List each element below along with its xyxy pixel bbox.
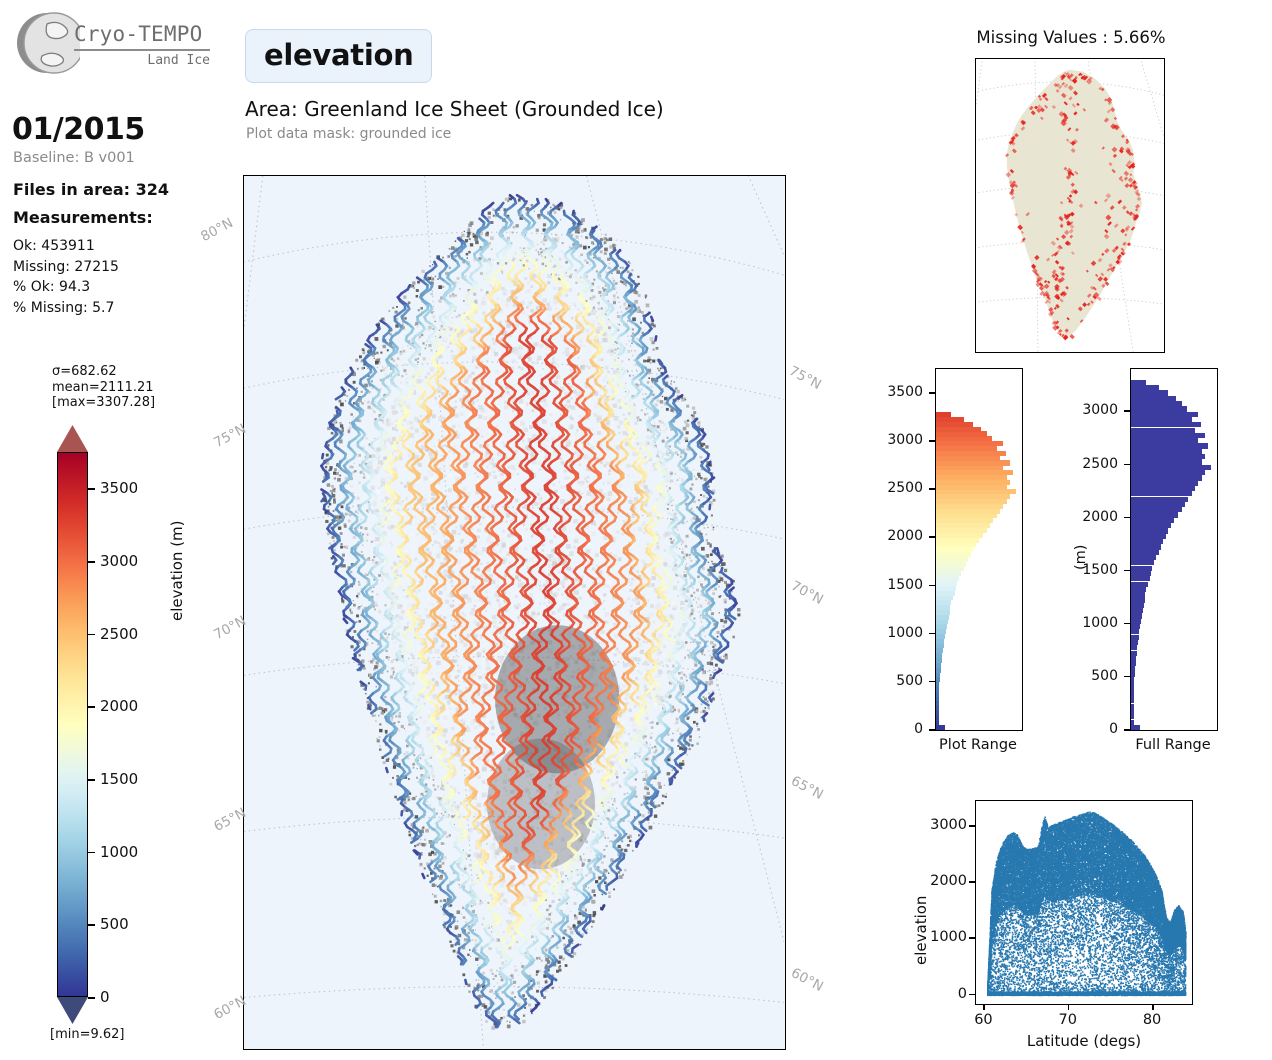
- histogram-tick: [929, 729, 935, 731]
- histogram-bar: [1131, 486, 1195, 491]
- histogram-tick-label: 3000: [885, 432, 923, 448]
- histogram-bar: [1131, 619, 1141, 624]
- histogram-bar: [1131, 587, 1146, 592]
- histogram-bar: [936, 696, 939, 701]
- plot-range-histogram[interactable]: [935, 368, 1023, 731]
- histogram-bar: [936, 701, 939, 706]
- histogram-tick: [929, 536, 935, 538]
- histogram-bar: [936, 571, 961, 576]
- histogram-bar: [1131, 661, 1136, 666]
- histogram-tick: [1124, 623, 1130, 625]
- mask-subtitle: Plot data mask: grounded ice: [246, 126, 451, 142]
- colorbar-tick-label: 0: [100, 988, 110, 1006]
- scatter-x-tick-label: 80: [1138, 1012, 1166, 1028]
- histogram-bar: [936, 605, 950, 610]
- histogram-tick-label: 1000: [1082, 615, 1118, 631]
- histogram-bar: [1131, 417, 1192, 422]
- histogram-bar: [1131, 571, 1151, 576]
- scatter-x-tick-label: 60: [969, 1012, 997, 1028]
- histogram-bar: [1131, 523, 1171, 528]
- globe-icon: [14, 8, 80, 78]
- scatter-y-tick-label: 1000: [917, 929, 967, 945]
- histogram-bar: [936, 576, 959, 581]
- histogram-bar: [936, 634, 945, 639]
- histogram-xlabel: Full Range: [1100, 737, 1246, 753]
- histogram-bar: [936, 600, 951, 605]
- histogram-bar: [936, 586, 956, 591]
- histogram-tick-label: 500: [1082, 668, 1118, 684]
- histogram-tick: [929, 681, 935, 683]
- histogram-bar: [936, 504, 1003, 509]
- measurements-list: Ok: 453911Missing: 27215% Ok: 94.3% Miss…: [13, 236, 119, 318]
- colorbar-tick: [88, 924, 95, 926]
- histogram-tick-label: 3000: [1082, 402, 1118, 418]
- histogram-bar: [1131, 454, 1205, 459]
- brand-name: Cryo-TEMPO: [74, 24, 210, 45]
- histogram-tick: [929, 392, 935, 394]
- colorbar-tick-label: 1500: [100, 770, 138, 788]
- files-in-area-label: Files in area: 324: [13, 180, 169, 199]
- histogram-tick-label: 2500: [885, 480, 923, 496]
- colorbar-tick-label: 3500: [100, 479, 138, 497]
- colorbar-tick-label: 500: [100, 915, 129, 933]
- latitude-elevation-scatter[interactable]: [975, 800, 1193, 1005]
- histogram-tick-label: 1500: [1082, 562, 1118, 578]
- scatter-xlabel: Latitude (degs): [975, 1032, 1193, 1050]
- histogram-bar: [936, 456, 1000, 461]
- histogram-bar: [1131, 433, 1205, 438]
- histogram-bar: [1131, 576, 1150, 581]
- histogram-bar: [936, 677, 940, 682]
- histogram-bar: [1131, 465, 1211, 470]
- histogram-bar: [1131, 428, 1195, 433]
- scatter-x-tick: [1068, 1004, 1070, 1010]
- histogram-tick: [929, 488, 935, 490]
- histogram-bar: [1131, 401, 1182, 406]
- histogram-bar: [936, 658, 942, 663]
- histogram-bar: [1131, 592, 1145, 597]
- histogram-tick-label: 1500: [885, 577, 923, 593]
- histogram-tick: [929, 585, 935, 587]
- histogram-tick: [1124, 517, 1130, 519]
- histogram-bar: [1131, 666, 1135, 671]
- histogram-bar: [1131, 597, 1145, 602]
- histogram-bar: [936, 614, 949, 619]
- scatter-y-tick: [969, 881, 975, 883]
- measurement-item: % Ok: 94.3: [13, 277, 119, 298]
- map-lat-label-right: 65°N: [788, 773, 826, 803]
- histogram-bar: [1131, 497, 1188, 502]
- histogram-bar: [936, 706, 939, 711]
- colorbar-tick: [88, 997, 95, 999]
- colorbar-axis-label: elevation (m): [168, 520, 186, 621]
- colorbar-gradient: [57, 452, 88, 997]
- histogram-bar: [936, 508, 1000, 513]
- scatter-y-tick-label: 2000: [917, 873, 967, 889]
- histogram-bar: [1131, 640, 1138, 645]
- histogram-bar: [1131, 566, 1152, 571]
- measurement-item: Missing: 27215: [13, 257, 119, 278]
- histogram-bar: [1131, 438, 1198, 443]
- histogram-bar: [1131, 550, 1159, 555]
- variable-badge[interactable]: elevation: [245, 29, 432, 83]
- histogram-bar: [1131, 603, 1144, 608]
- scatter-x-tick-label: 70: [1054, 1012, 1082, 1028]
- colorbar-tick: [88, 852, 95, 854]
- histogram-bar: [1131, 406, 1187, 411]
- histogram-bar: [1131, 582, 1148, 587]
- missing-values-map[interactable]: [975, 58, 1165, 353]
- histogram-bar: [936, 581, 957, 586]
- measurement-item: % Missing: 5.7: [13, 298, 119, 319]
- baseline-label: Baseline: B v001: [13, 150, 135, 166]
- scatter-x-tick: [983, 1004, 985, 1010]
- histogram-bar: [1131, 709, 1134, 714]
- colorbar-tick-label: 1000: [100, 843, 138, 861]
- brand-divider: [74, 49, 210, 51]
- histogram-bar: [1131, 555, 1156, 560]
- histogram-bar: [936, 624, 947, 629]
- histogram-tick: [1124, 410, 1130, 412]
- stat-mean: mean=2111.21: [52, 380, 155, 396]
- histogram-bar: [1131, 656, 1136, 661]
- map-canvas: [244, 176, 785, 1049]
- colorbar-under-arrow: [57, 997, 88, 1024]
- histogram-bar: [936, 484, 1007, 489]
- histogram-bar: [1131, 459, 1202, 464]
- histogram-tick: [929, 440, 935, 442]
- histogram-bar: [936, 672, 940, 677]
- histogram-bar: [1131, 412, 1198, 417]
- main-map[interactable]: km 400.0: [243, 175, 786, 1050]
- histogram-bar: [1131, 725, 1140, 730]
- colorbar-tick-label: 3000: [100, 552, 138, 570]
- histogram-bar: [1131, 672, 1135, 677]
- histogram-bar: [936, 475, 1007, 480]
- brand-text: Cryo-TEMPO Land Ice: [74, 24, 210, 67]
- histogram-bar: [936, 513, 997, 518]
- histogram-tick-label: 2500: [1082, 456, 1118, 472]
- histogram-tick: [1124, 570, 1130, 572]
- histogram-tick: [1124, 729, 1130, 731]
- histogram-bar: [936, 441, 1003, 446]
- colorbar-tick: [88, 706, 95, 708]
- brand-subtitle: Land Ice: [74, 54, 210, 67]
- measurements-heading: Measurements:: [13, 208, 153, 227]
- map-lat-label-right: 75°N: [786, 363, 824, 393]
- histogram-bar: [1131, 396, 1176, 401]
- histogram-bar: [1131, 613, 1142, 618]
- map-lat-label-left: 80°N: [198, 215, 236, 245]
- histogram-bar: [1131, 645, 1137, 650]
- colorbar-stats: σ=682.62 mean=2111.21 [max=3307.28]: [52, 364, 155, 411]
- histogram-bar: [1131, 481, 1198, 486]
- histogram-bar: [936, 715, 939, 720]
- histogram-bar: [936, 557, 968, 562]
- histogram-bar: [1131, 475, 1202, 480]
- histogram-bar: [1131, 698, 1134, 703]
- histogram-bar: [936, 610, 950, 615]
- histogram-bar: [936, 629, 946, 634]
- histogram-tick-label: 0: [1082, 721, 1118, 737]
- histogram-bar: [1131, 693, 1134, 698]
- stat-sigma: σ=682.62: [52, 364, 155, 380]
- histogram-bar: [936, 489, 1016, 494]
- histogram-bar: [1131, 470, 1205, 475]
- histogram-bar: [936, 494, 1010, 499]
- scatter-graphics: [976, 801, 1191, 1003]
- histogram-bar: [1131, 539, 1163, 544]
- measurement-item: Ok: 453911: [13, 236, 119, 257]
- histogram-bar: [1131, 422, 1201, 427]
- histogram-bar: [936, 595, 953, 600]
- histogram-bar: [936, 725, 945, 730]
- histogram-tick-label: 500: [885, 673, 923, 689]
- full-range-histogram[interactable]: [1130, 368, 1218, 731]
- histogram-bar: [936, 533, 983, 538]
- colorbar-tick: [88, 561, 95, 563]
- scatter-y-tick: [969, 994, 975, 996]
- histogram-bar: [936, 528, 987, 533]
- scatter-y-tick-label: 3000: [917, 817, 967, 833]
- histogram-bar: [936, 590, 955, 595]
- histogram-bar: [936, 431, 987, 436]
- histogram-bar: [1131, 560, 1154, 565]
- scatter-x-tick: [1152, 1004, 1154, 1010]
- histogram-bar: [936, 422, 973, 427]
- histogram-tick-label: 2000: [1082, 509, 1118, 525]
- histogram-bar: [936, 638, 944, 643]
- histogram-bar: [1131, 491, 1192, 496]
- map-lat-label-right: 60°N: [788, 965, 826, 995]
- colorbar-over-arrow: [57, 425, 88, 452]
- histogram-bar: [936, 687, 939, 692]
- histogram-bar: [936, 711, 939, 716]
- colorbar: elevation (m) [min=9.62] 050010001500200…: [50, 425, 200, 1035]
- histogram-bar: [1131, 677, 1134, 682]
- histogram-tick-label: 0: [885, 721, 923, 737]
- histogram-bar: [936, 499, 1007, 504]
- histogram-bar: [936, 547, 973, 552]
- colorbar-min-label: [min=9.62]: [50, 1027, 125, 1042]
- colorbar-tick-label: 2000: [100, 697, 138, 715]
- colorbar-tick: [88, 488, 95, 490]
- histogram-bar: [1131, 449, 1202, 454]
- histogram-bar: [936, 653, 942, 658]
- missing-values-title: Missing Values : 5.66%: [975, 28, 1167, 47]
- scatter-y-tick: [969, 937, 975, 939]
- histogram-bar: [1131, 635, 1139, 640]
- histogram-bar: [1131, 714, 1134, 719]
- histogram-bar: [936, 518, 993, 523]
- histogram-bar: [936, 566, 964, 571]
- histogram-tick: [1124, 464, 1130, 466]
- histogram-bar: [1131, 651, 1137, 656]
- histogram-bar: [936, 561, 966, 566]
- histogram-bar: [936, 460, 1010, 465]
- missing-values-graphics: [976, 59, 1164, 352]
- histogram-bar: [936, 436, 992, 441]
- stat-max: [max=3307.28]: [52, 395, 155, 411]
- histogram-bar: [1131, 704, 1134, 709]
- histogram-bar: [936, 451, 1006, 456]
- histogram-bar: [1131, 629, 1139, 634]
- histogram-bar: [936, 663, 941, 668]
- area-title: Area: Greenland Ice Sheet (Grounded Ice): [245, 97, 664, 121]
- histogram-bar: [1131, 720, 1134, 725]
- histogram-bar: [1131, 682, 1134, 687]
- histogram-bar: [936, 720, 939, 725]
- histogram-bar: [936, 470, 1013, 475]
- histogram-bar: [936, 667, 941, 672]
- histogram-tick: [1124, 676, 1130, 678]
- histogram-bar: [936, 465, 1003, 470]
- histogram-bar: [936, 446, 997, 451]
- histogram-bar: [936, 648, 943, 653]
- histogram-bar: [936, 523, 990, 528]
- histogram-bar: [1131, 518, 1174, 523]
- scatter-y-tick: [969, 825, 975, 827]
- histogram-tick: [929, 633, 935, 635]
- date-label: 01/2015: [12, 112, 145, 147]
- histogram-bar: [1131, 608, 1143, 613]
- histogram-bar: [1131, 507, 1182, 512]
- histogram-tick-label: 3500: [885, 384, 923, 400]
- histogram-bar: [1131, 688, 1134, 693]
- histogram-bar: [1131, 502, 1185, 507]
- histogram-bar: [1131, 385, 1159, 390]
- histogram-tick-label: 2000: [885, 528, 923, 544]
- histogram-bar: [936, 480, 1010, 485]
- histogram-bar: [936, 643, 944, 648]
- histogram-bar: [936, 537, 979, 542]
- histogram-bar: [936, 427, 981, 432]
- histogram-bar: [1131, 534, 1166, 539]
- histogram-bar: [936, 619, 948, 624]
- histogram-bar: [1131, 380, 1146, 385]
- map-graphics: [244, 176, 784, 1048]
- histogram-xlabel: Plot Range: [905, 737, 1051, 753]
- histogram-bar: [936, 417, 964, 422]
- histogram-bar: [1131, 512, 1178, 517]
- histogram-bar: [1131, 544, 1161, 549]
- histogram-bar: [936, 691, 939, 696]
- colorbar-tick: [88, 779, 95, 781]
- scatter-y-tick-label: 0: [917, 986, 967, 1002]
- histogram-bar: [1131, 390, 1168, 395]
- histogram-bar: [1131, 443, 1208, 448]
- histogram-bar: [936, 552, 971, 557]
- histogram-bar: [936, 412, 951, 417]
- histogram-bar: [1131, 528, 1168, 533]
- histogram-bar: [936, 682, 939, 687]
- histogram-tick-label: 1000: [885, 625, 923, 641]
- map-lat-label-right: 70°N: [788, 578, 826, 608]
- histogram-bar: [1131, 624, 1140, 629]
- histogram-bar: [936, 542, 976, 547]
- colorbar-tick-label: 2500: [100, 625, 138, 643]
- colorbar-tick: [88, 634, 95, 636]
